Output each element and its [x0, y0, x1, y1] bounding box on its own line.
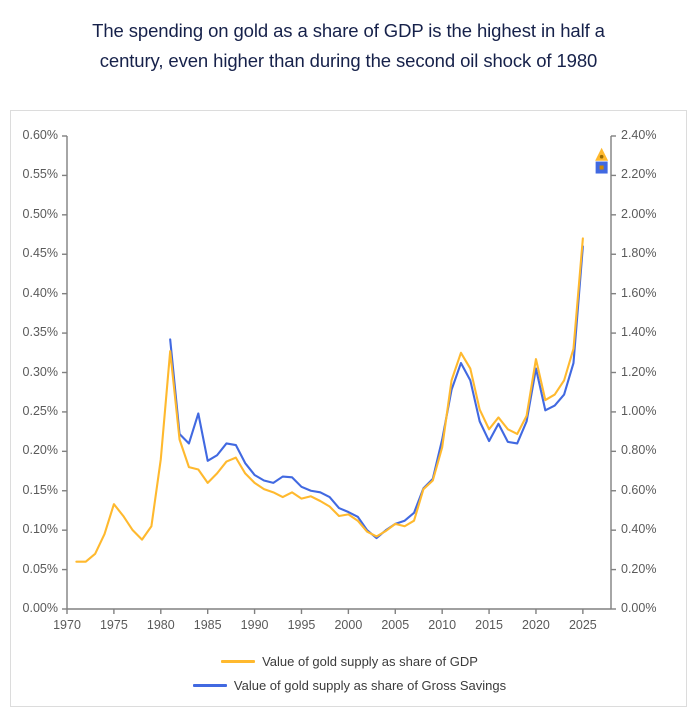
left-axis-tick-label: 0.35% [11, 325, 58, 339]
series-line-gdp [76, 238, 582, 561]
left-axis-tick-label: 0.45% [11, 246, 58, 260]
right-axis-tick-label: 1.60% [621, 286, 656, 300]
left-axis-tick-label: 0.00% [11, 601, 58, 615]
legend-item-gdp[interactable]: Value of gold supply as share of GDP [11, 649, 688, 673]
marker-square-center [600, 166, 604, 170]
legend-swatch-gross-savings [193, 684, 227, 687]
page-title-line-1: The spending on gold as a share of GDP i… [0, 16, 697, 46]
chart-legend: Value of gold supply as share of GDP Val… [11, 649, 688, 697]
right-axis-tick-label: 1.20% [621, 365, 656, 379]
x-axis-tick-label: 1995 [275, 618, 327, 632]
chart-page: The spending on gold as a share of GDP i… [0, 0, 697, 717]
x-axis-tick-label: 2025 [557, 618, 609, 632]
left-axis-tick-label: 0.25% [11, 404, 58, 418]
left-axis-tick-label: 0.20% [11, 443, 58, 457]
x-axis-tick-label: 1975 [88, 618, 140, 632]
marker-triangle-center [600, 155, 604, 159]
legend-item-gross-savings[interactable]: Value of gold supply as share of Gross S… [11, 673, 688, 697]
x-axis-tick-label: 2020 [510, 618, 562, 632]
left-axis-tick-label: 0.15% [11, 483, 58, 497]
x-axis-tick-label: 2005 [369, 618, 421, 632]
left-axis-tick-label: 0.40% [11, 286, 58, 300]
x-axis-tick-label: 2000 [322, 618, 374, 632]
left-axis-tick-label: 0.50% [11, 207, 58, 221]
x-axis-tick-label: 1970 [41, 618, 93, 632]
x-axis-tick-label: 2015 [463, 618, 515, 632]
left-axis-tick-label: 0.10% [11, 522, 58, 536]
right-axis-tick-label: 2.00% [621, 207, 656, 221]
marker-triangle-gdp [595, 148, 608, 161]
legend-label-gross-savings: Value of gold supply as share of Gross S… [234, 678, 506, 693]
legend-swatch-gdp [221, 660, 255, 663]
right-axis-tick-label: 0.20% [621, 562, 656, 576]
right-axis-tick-label: 1.80% [621, 246, 656, 260]
left-axis-tick-label: 0.05% [11, 562, 58, 576]
plot-area: 0.00%0.05%0.10%0.15%0.20%0.25%0.30%0.35%… [11, 111, 688, 708]
x-axis-tick-label: 1990 [229, 618, 281, 632]
right-axis-tick-label: 0.60% [621, 483, 656, 497]
right-axis-tick-label: 1.00% [621, 404, 656, 418]
left-axis-tick-label: 0.55% [11, 167, 58, 181]
right-axis-tick-label: 0.00% [621, 601, 656, 615]
page-title-line-2: century, even higher than during the sec… [0, 46, 697, 76]
series-line-gross-savings [170, 246, 583, 538]
right-axis-tick-label: 0.40% [621, 522, 656, 536]
chart-container: 0.00%0.05%0.10%0.15%0.20%0.25%0.30%0.35%… [10, 110, 687, 707]
x-axis-tick-label: 2010 [416, 618, 468, 632]
right-axis-tick-label: 2.40% [621, 128, 656, 142]
right-axis-tick-label: 0.80% [621, 443, 656, 457]
x-axis-tick-label: 1980 [135, 618, 187, 632]
right-axis-tick-label: 2.20% [621, 167, 656, 181]
right-axis-tick-label: 1.40% [621, 325, 656, 339]
x-axis-tick-label: 1985 [182, 618, 234, 632]
page-title: The spending on gold as a share of GDP i… [0, 16, 697, 76]
left-axis-tick-label: 0.30% [11, 365, 58, 379]
legend-label-gdp: Value of gold supply as share of GDP [262, 654, 478, 669]
left-axis-tick-label: 0.60% [11, 128, 58, 142]
